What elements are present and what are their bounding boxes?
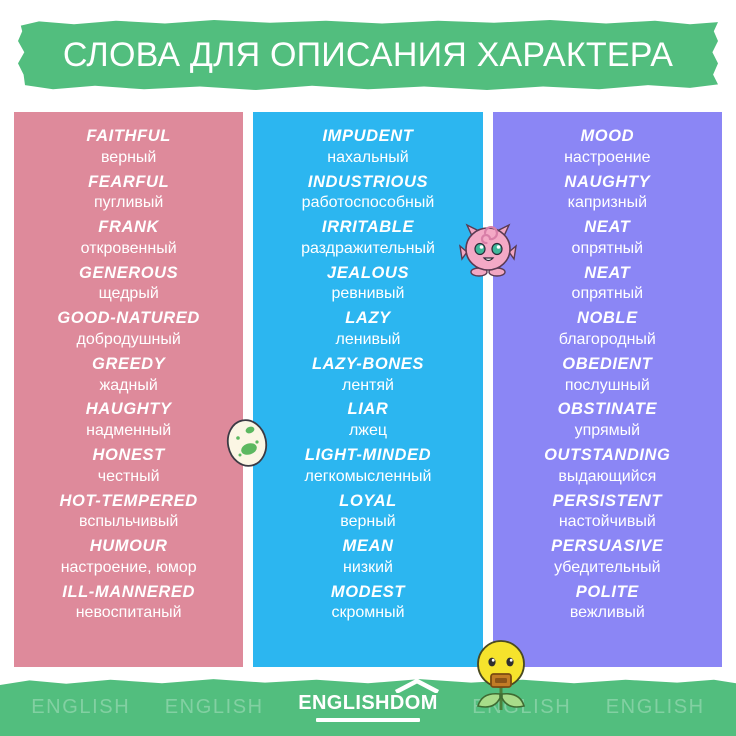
- word-english: ILL-MANNERED: [20, 582, 237, 604]
- word-russian: вспыльчивый: [20, 512, 237, 533]
- word-english: GREEDY: [20, 354, 237, 376]
- word-pair: MOODнастроение: [499, 126, 716, 169]
- word-pair: MEANнизкий: [259, 536, 476, 579]
- sunflower-icon: [471, 638, 531, 714]
- word-russian: лжец: [259, 421, 476, 442]
- brand-underline: [316, 718, 420, 722]
- word-pair: NAUGHTYкапризный: [499, 172, 716, 215]
- footer-ghost-word: ENGLISH: [606, 696, 705, 719]
- word-pair: PERSISTENTнастойчивый: [499, 491, 716, 534]
- word-pair: GOOD-NATUREDдобродушный: [20, 308, 237, 351]
- word-english: PERSUASIVE: [499, 536, 716, 558]
- word-pair: LOYALверный: [259, 491, 476, 534]
- word-russian: легкомысленный: [259, 467, 476, 488]
- word-column-pink: FAITHFULверный FEARFULпугливый FRANKоткр…: [14, 112, 243, 667]
- word-russian: верный: [20, 148, 237, 169]
- word-english: HAUGHTY: [20, 399, 237, 421]
- word-english: OUTSTANDING: [499, 445, 716, 467]
- word-pair: PERSUASIVEубедительный: [499, 536, 716, 579]
- word-english: FEARFUL: [20, 172, 237, 194]
- word-english: INDUSTRIOUS: [259, 172, 476, 194]
- word-column-blue: IMPUDENTнахальный INDUSTRIOUSработоспосо…: [253, 112, 482, 667]
- word-russian: откровенный: [20, 239, 237, 260]
- word-pair: HOT-TEMPEREDвспыльчивый: [20, 491, 237, 534]
- word-english: NEAT: [499, 217, 716, 239]
- word-english: LAZY: [259, 308, 476, 330]
- word-english: MODEST: [259, 582, 476, 604]
- word-pair: LIGHT-MINDEDлегкомысленный: [259, 445, 476, 488]
- word-english: HOT-TEMPERED: [20, 491, 237, 513]
- word-pair: HAUGHTYнадменный: [20, 399, 237, 442]
- word-pair: LAZY-BONESлентяй: [259, 354, 476, 397]
- word-russian: настроение: [499, 148, 716, 169]
- word-russian: упрямый: [499, 421, 716, 442]
- roof-chevron-icon: [394, 679, 440, 693]
- word-russian: нахальный: [259, 148, 476, 169]
- word-pair: HUMOURнастроение, юмор: [20, 536, 237, 579]
- word-pair: ILL-MANNEREDневоспитаный: [20, 582, 237, 625]
- word-pair: IMPUDENTнахальный: [259, 126, 476, 169]
- word-russian: убедительный: [499, 558, 716, 579]
- word-russian: щедрый: [20, 284, 237, 305]
- footer-word-row: ENGLISH ENGLISH ENGLISHDOM ENGLISH ENGLI…: [0, 678, 736, 736]
- word-russian: лентяй: [259, 376, 476, 397]
- word-russian: скромный: [259, 603, 476, 624]
- word-russian: работоспособный: [259, 193, 476, 214]
- word-english: HUMOUR: [20, 536, 237, 558]
- footer-ghost-word: ENGLISH: [31, 696, 130, 719]
- word-pair: NEATопрятный: [499, 263, 716, 306]
- word-english: LIGHT-MINDED: [259, 445, 476, 467]
- brand-logo[interactable]: ENGLISHDOM: [298, 692, 438, 722]
- word-english: LOYAL: [259, 491, 476, 513]
- word-russian: выдающийся: [499, 467, 716, 488]
- word-english: JEALOUS: [259, 263, 476, 285]
- word-english: MOOD: [499, 126, 716, 148]
- word-russian: низкий: [259, 558, 476, 579]
- word-russian: опрятный: [499, 284, 716, 305]
- word-english: IMPUDENT: [259, 126, 476, 148]
- word-pair: OBEDIENTпослушный: [499, 354, 716, 397]
- word-pair: NEATопрятный: [499, 217, 716, 260]
- title-banner: СЛОВА ДЛЯ ОПИСАНИЯ ХАРАКТЕРА: [18, 20, 718, 90]
- word-russian: невоспитаный: [20, 603, 237, 624]
- word-english: IRRITABLE: [259, 217, 476, 239]
- word-russian: раздражительный: [259, 239, 476, 260]
- word-pair: OBSTINATEупрямый: [499, 399, 716, 442]
- word-english: NEAT: [499, 263, 716, 285]
- word-english: POLITE: [499, 582, 716, 604]
- word-pair: MODESTскромный: [259, 582, 476, 625]
- word-pair: HONESTчестный: [20, 445, 237, 488]
- word-russian: жадный: [20, 376, 237, 397]
- word-russian: благородный: [499, 330, 716, 351]
- egg-icon: [224, 412, 270, 468]
- word-pair: FRANKоткровенный: [20, 217, 237, 260]
- word-russian: настроение, юмор: [20, 558, 237, 579]
- word-russian: добродушный: [20, 330, 237, 351]
- word-english: GENEROUS: [20, 263, 237, 285]
- word-english: HONEST: [20, 445, 237, 467]
- word-pair: GREEDYжадный: [20, 354, 237, 397]
- word-pair: LAZYленивый: [259, 308, 476, 351]
- word-pair: OUTSTANDINGвыдающийся: [499, 445, 716, 488]
- word-columns: FAITHFULверный FEARFULпугливый FRANKоткр…: [14, 112, 722, 667]
- word-english: GOOD-NATURED: [20, 308, 237, 330]
- footer-banner: ENGLISH ENGLISH ENGLISHDOM ENGLISH ENGLI…: [0, 678, 736, 736]
- word-russian: вежливый: [499, 603, 716, 624]
- word-russian: честный: [20, 467, 237, 488]
- word-pair: FAITHFULверный: [20, 126, 237, 169]
- word-pair: FEARFULпугливый: [20, 172, 237, 215]
- page-title: СЛОВА ДЛЯ ОПИСАНИЯ ХАРАКТЕРА: [18, 20, 718, 90]
- word-english: FAITHFUL: [20, 126, 237, 148]
- word-pair: LIARлжец: [259, 399, 476, 442]
- word-pair: POLITEвежливый: [499, 582, 716, 625]
- word-pair: GENEROUSщедрый: [20, 263, 237, 306]
- word-english: PERSISTENT: [499, 491, 716, 513]
- word-russian: настойчивый: [499, 512, 716, 533]
- word-english: LAZY-BONES: [259, 354, 476, 376]
- word-english: OBEDIENT: [499, 354, 716, 376]
- word-english: LIAR: [259, 399, 476, 421]
- word-pair: JEALOUSревнивый: [259, 263, 476, 306]
- brand-name: ENGLISHDOM: [298, 692, 438, 715]
- word-pair: NOBLEблагородный: [499, 308, 716, 351]
- word-russian: опрятный: [499, 239, 716, 260]
- word-english: NAUGHTY: [499, 172, 716, 194]
- word-column-purple: MOODнастроение NAUGHTYкапризный NEATопря…: [493, 112, 722, 667]
- word-russian: верный: [259, 512, 476, 533]
- word-russian: надменный: [20, 421, 237, 442]
- word-pair: IRRITABLEраздражительный: [259, 217, 476, 260]
- word-russian: ревнивый: [259, 284, 476, 305]
- word-russian: послушный: [499, 376, 716, 397]
- word-english: OBSTINATE: [499, 399, 716, 421]
- word-pair: INDUSTRIOUSработоспособный: [259, 172, 476, 215]
- word-english: MEAN: [259, 536, 476, 558]
- word-russian: ленивый: [259, 330, 476, 351]
- word-russian: капризный: [499, 193, 716, 214]
- word-english: FRANK: [20, 217, 237, 239]
- word-english: NOBLE: [499, 308, 716, 330]
- jigglypuff-icon: [459, 222, 517, 278]
- word-russian: пугливый: [20, 193, 237, 214]
- footer-ghost-word: ENGLISH: [165, 696, 264, 719]
